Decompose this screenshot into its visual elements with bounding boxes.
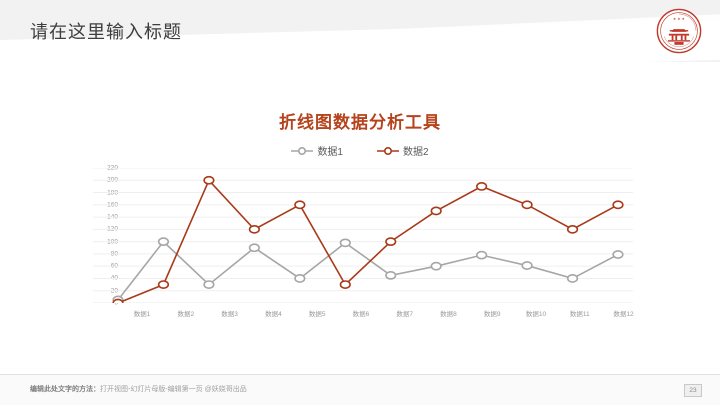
- data-point-marker[interactable]: [477, 252, 487, 259]
- data-point-marker[interactable]: [159, 281, 169, 288]
- university-seal-logo: ★ ★ ★: [656, 8, 702, 54]
- x-axis-tick-label: 数据1: [134, 308, 151, 318]
- chart-legend: 数据1 数据2: [0, 143, 720, 158]
- data-point-marker[interactable]: [522, 201, 532, 208]
- data-point-marker[interactable]: [477, 183, 487, 190]
- legend-label-series2: 数据2: [403, 143, 429, 158]
- data-point-marker[interactable]: [250, 244, 260, 251]
- x-axis-tick-label: 数据2: [178, 308, 195, 318]
- legend-item-series1[interactable]: 数据1: [291, 143, 343, 158]
- x-axis-tick-label: 数据8: [440, 308, 457, 318]
- footer-text: 编辑此处文字的方法：打开视图-幻灯片母版-编辑第一页 @妖娆哥出品: [30, 384, 247, 394]
- data-point-marker[interactable]: [386, 238, 396, 245]
- data-point-marker[interactable]: [204, 177, 214, 184]
- x-axis-tick-label: 数据9: [484, 308, 501, 318]
- x-axis-tick-label: 数据11: [570, 308, 590, 318]
- series-2-line: [113, 177, 623, 303]
- data-point-marker[interactable]: [431, 263, 441, 270]
- page-title: 请在这里输入标题: [30, 18, 182, 44]
- data-point-marker[interactable]: [204, 281, 214, 288]
- data-point-marker[interactable]: [613, 201, 623, 208]
- x-axis-tick-label: 数据12: [613, 308, 633, 318]
- legend-item-series2[interactable]: 数据2: [377, 143, 429, 158]
- data-point-marker[interactable]: [340, 239, 350, 246]
- x-axis-tick-label: 数据7: [396, 308, 413, 318]
- data-point-marker[interactable]: [568, 275, 578, 282]
- chart-title: 折线图数据分析工具: [0, 108, 720, 133]
- legend-marker-icon: [377, 146, 399, 156]
- series-1-line: [113, 238, 623, 303]
- data-point-marker[interactable]: [340, 281, 350, 288]
- data-point-marker[interactable]: [295, 201, 305, 208]
- x-axis-tick-label: 数据6: [353, 308, 370, 318]
- footer-body: 打开视图-幻灯片母版-编辑第一页 @妖娆哥出品: [100, 386, 247, 393]
- data-point-marker[interactable]: [568, 226, 578, 233]
- slide-canvas: 请在这里输入标题 ★ ★ ★ 折线图数据分析工具 数据1: [0, 0, 720, 405]
- legend-label-series1: 数据1: [317, 143, 343, 158]
- footer-label: 编辑此处文字的方法：: [30, 386, 100, 393]
- data-point-marker[interactable]: [113, 299, 123, 303]
- data-point-marker[interactable]: [522, 262, 532, 269]
- data-point-marker[interactable]: [431, 207, 441, 214]
- x-axis-tick-label: 数据5: [309, 308, 326, 318]
- line-chart-plot: [93, 168, 633, 303]
- page-number-badge: 23: [684, 384, 702, 397]
- data-point-marker[interactable]: [250, 226, 260, 233]
- x-axis-tick-label: 数据3: [221, 308, 238, 318]
- gridlines: [93, 168, 633, 303]
- data-point-marker[interactable]: [159, 238, 169, 245]
- x-axis-tick-label: 数据10: [526, 308, 546, 318]
- data-point-marker[interactable]: [295, 275, 305, 282]
- svg-text:★ ★ ★: ★ ★ ★: [673, 17, 686, 21]
- data-point-marker[interactable]: [613, 251, 623, 258]
- chart-x-axis: 数据1数据2数据3数据4数据5数据6数据7数据8数据9数据10数据11数据12: [118, 308, 638, 324]
- legend-marker-icon: [291, 146, 313, 156]
- x-axis-tick-label: 数据4: [265, 308, 282, 318]
- data-point-marker[interactable]: [386, 272, 396, 279]
